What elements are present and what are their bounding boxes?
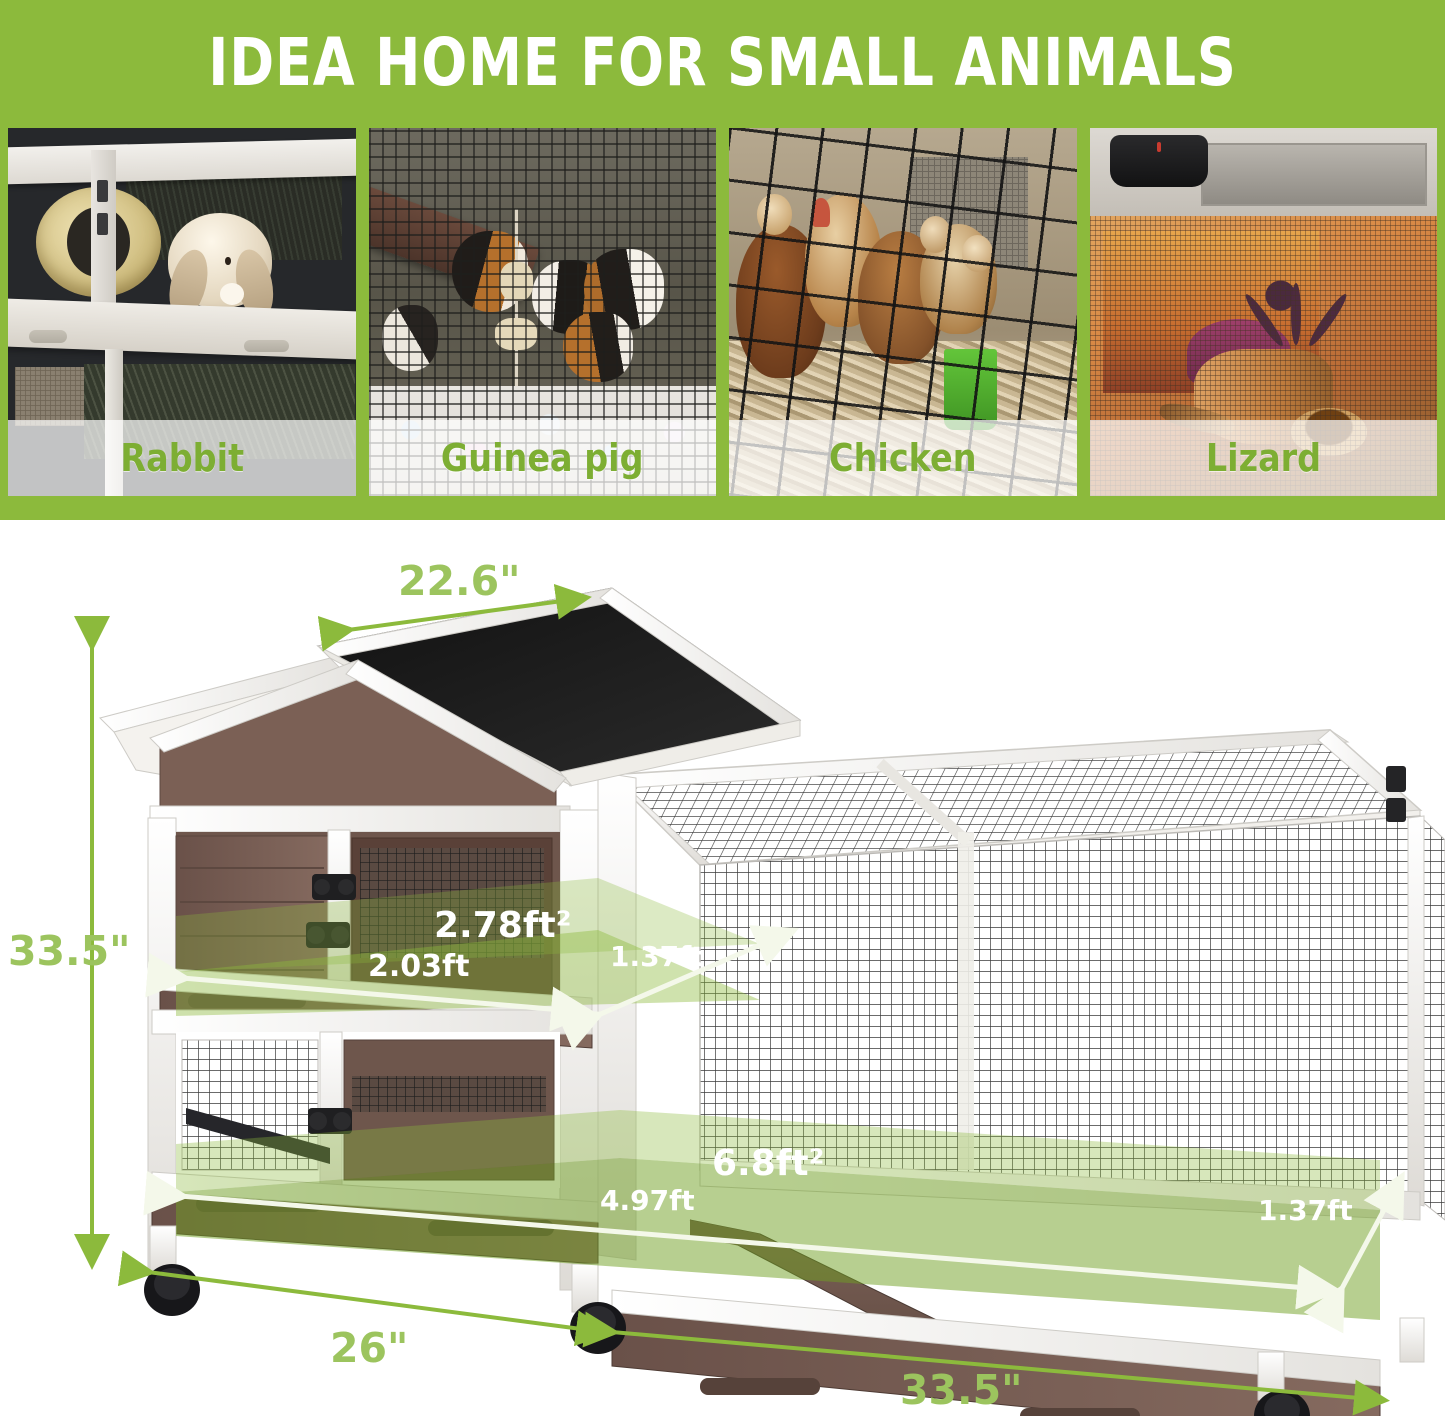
photo-card-guinea-pig[interactable]: Guinea pig: [369, 128, 717, 496]
photo-label-lizard: Lizard: [1206, 436, 1321, 480]
animal-photo-strip: Rabbit Guinea pig: [8, 128, 1437, 496]
dim-label-roof-depth: 22.6": [398, 557, 521, 605]
photo-label-band: Guinea pig: [369, 420, 717, 496]
hutch-width-arrow: [148, 1272, 604, 1332]
photo-label-guinea-pig: Guinea pig: [441, 436, 644, 480]
photo-card-rabbit[interactable]: Rabbit: [8, 128, 356, 496]
area-label-lower-depth: 1.37ft: [1258, 1194, 1353, 1227]
photo-card-lizard[interactable]: Lizard: [1090, 128, 1438, 496]
photo-label-band: Lizard: [1090, 420, 1438, 496]
area-label-lower: 6.8ft²: [712, 1143, 824, 1184]
dim-label-run-width: 33.5": [900, 1366, 1023, 1414]
dim-label-hutch-width: 26": [330, 1324, 408, 1372]
dim-label-total-height: 33.5": [8, 927, 131, 975]
photo-label-chicken: Chicken: [829, 436, 976, 480]
photo-label-band: Rabbit: [8, 420, 356, 496]
header-banner: IDEA HOME FOR SMALL ANIMALS: [0, 0, 1445, 520]
photo-label-rabbit: Rabbit: [120, 436, 244, 480]
area-label-upper-depth: 1.37ft: [610, 940, 705, 973]
photo-card-chicken[interactable]: Chicken: [729, 128, 1077, 496]
area-label-lower-width: 4.97ft: [600, 1184, 695, 1217]
photo-label-band: Chicken: [729, 420, 1077, 496]
product-dimension-diagram: 22.6" 33.5" 26" 33.5" 2.78ft² 2.03ft 1.3…: [0, 520, 1445, 1416]
area-label-upper-width: 2.03ft: [368, 949, 469, 984]
page-title: IDEA HOME FOR SMALL ANIMALS: [130, 30, 1315, 96]
area-label-upper: 2.78ft²: [434, 905, 571, 946]
